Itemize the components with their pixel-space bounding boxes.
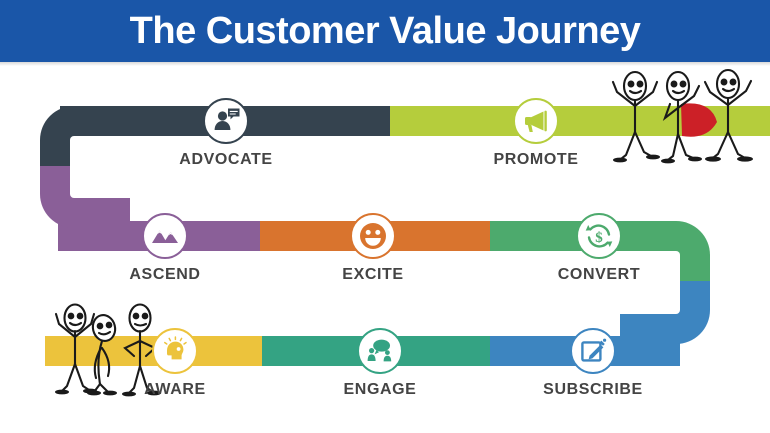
stage-promote[interactable]: PROMOTE [466, 98, 606, 169]
page-header-banner: The Customer Value Journey [0, 0, 770, 62]
stage-subscribe[interactable]: SUBSCRIBE [523, 328, 663, 399]
svg-text:$: $ [595, 230, 603, 246]
journey-diagram: ADVOCATE PROMOTE [0, 66, 770, 433]
dollar-refresh-icon: $ [576, 213, 622, 259]
stage-label-ascend: ASCEND [95, 266, 235, 284]
megaphone-icon [513, 98, 559, 144]
stage-excite[interactable]: EXCITE [303, 213, 443, 284]
head-idea-icon [152, 328, 198, 374]
stage-advocate[interactable]: ADVOCATE [156, 98, 296, 169]
page-title: The Customer Value Journey [130, 10, 641, 53]
person-speech-bubble-icon [203, 98, 249, 144]
celebrating-figures-illustration [595, 60, 770, 165]
stage-label-advocate: ADVOCATE [156, 151, 296, 169]
stage-aware[interactable]: AWARE [105, 328, 245, 399]
people-chat-icon [357, 328, 403, 374]
connector-left-top-advocate-to-ascend [40, 106, 130, 166]
stage-engage[interactable]: ENGAGE [310, 328, 450, 399]
pencil-square-icon [570, 328, 616, 374]
stage-label-promote: PROMOTE [466, 151, 606, 169]
smiley-face-icon [350, 213, 396, 259]
stage-label-excite: EXCITE [303, 266, 443, 284]
stage-label-aware: AWARE [105, 381, 245, 399]
mountain-icon [142, 213, 188, 259]
stage-label-convert: CONVERT [529, 266, 669, 284]
stage-convert[interactable]: $ CONVERT [529, 213, 669, 284]
stage-label-subscribe: SUBSCRIBE [523, 381, 663, 399]
stage-label-engage: ENGAGE [310, 381, 450, 399]
stage-ascend[interactable]: ASCEND [95, 213, 235, 284]
customer-value-journey-infographic: The Customer Value Journey [0, 0, 770, 433]
